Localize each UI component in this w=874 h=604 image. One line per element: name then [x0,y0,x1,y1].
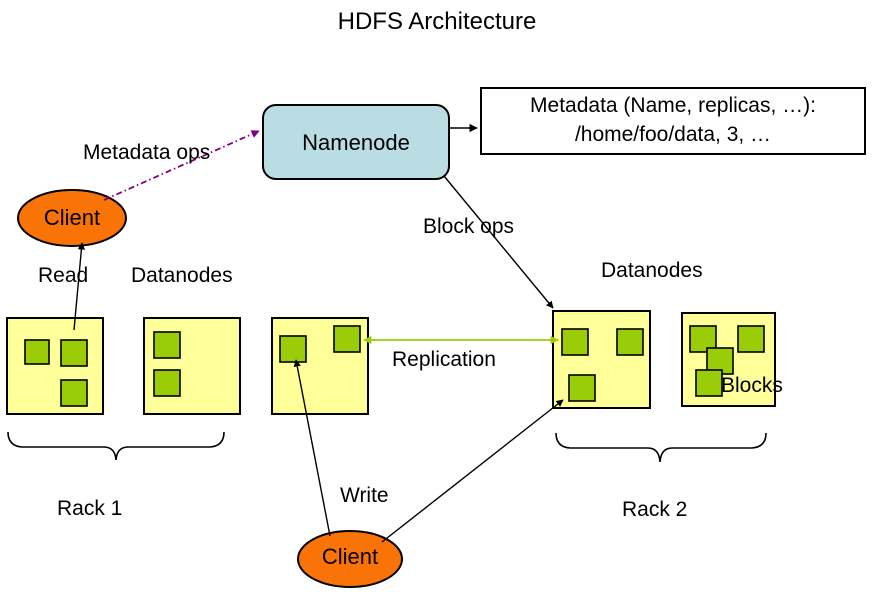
datanodes-right-label: Datanodes [601,259,703,283]
read-label: Read [38,264,88,288]
metadata-text-line-1: Metadata (Name, replicas, …): [481,94,865,118]
diagram-canvas [0,0,874,604]
rack2-brace [556,433,766,462]
rack1-datanode-3 [272,318,368,414]
block [696,370,722,396]
metadata-ops-label: Metadata ops [83,141,210,165]
block [334,326,360,352]
datanodes-left-label: Datanodes [131,264,233,288]
block-ops-arrow [444,176,553,308]
write-label: Write [340,484,389,508]
blocks-label: Blocks [721,374,783,398]
block [154,370,180,396]
rack2-label: Rack 2 [622,498,687,522]
page-title: HDFS Architecture [0,9,874,36]
replication-label: Replication [392,348,496,372]
rack1-label: Rack 1 [57,497,122,521]
client-top-label: Client [22,205,122,231]
rack1-datanode-2 [144,318,240,414]
metadata-text-line-2: /home/foo/data, 3, … [481,123,865,147]
block [61,380,87,406]
block [738,326,764,352]
rack1-brace [8,432,224,460]
rack1-datanode-1 [7,318,103,414]
block [25,340,49,364]
block-ops-label: Block ops [423,215,514,239]
rack2-datanode-1 [553,311,650,408]
block [280,336,306,362]
block [154,332,180,358]
client-bottom-label: Client [300,544,400,570]
write-right-arrow [382,400,563,542]
block [617,329,643,355]
namenode-label: Namenode [262,131,450,156]
block [61,340,87,366]
hdfs-architecture-diagram: HDFS Architecture Namenode Metadata (Nam… [0,0,874,604]
block [569,375,595,401]
block [562,329,588,355]
